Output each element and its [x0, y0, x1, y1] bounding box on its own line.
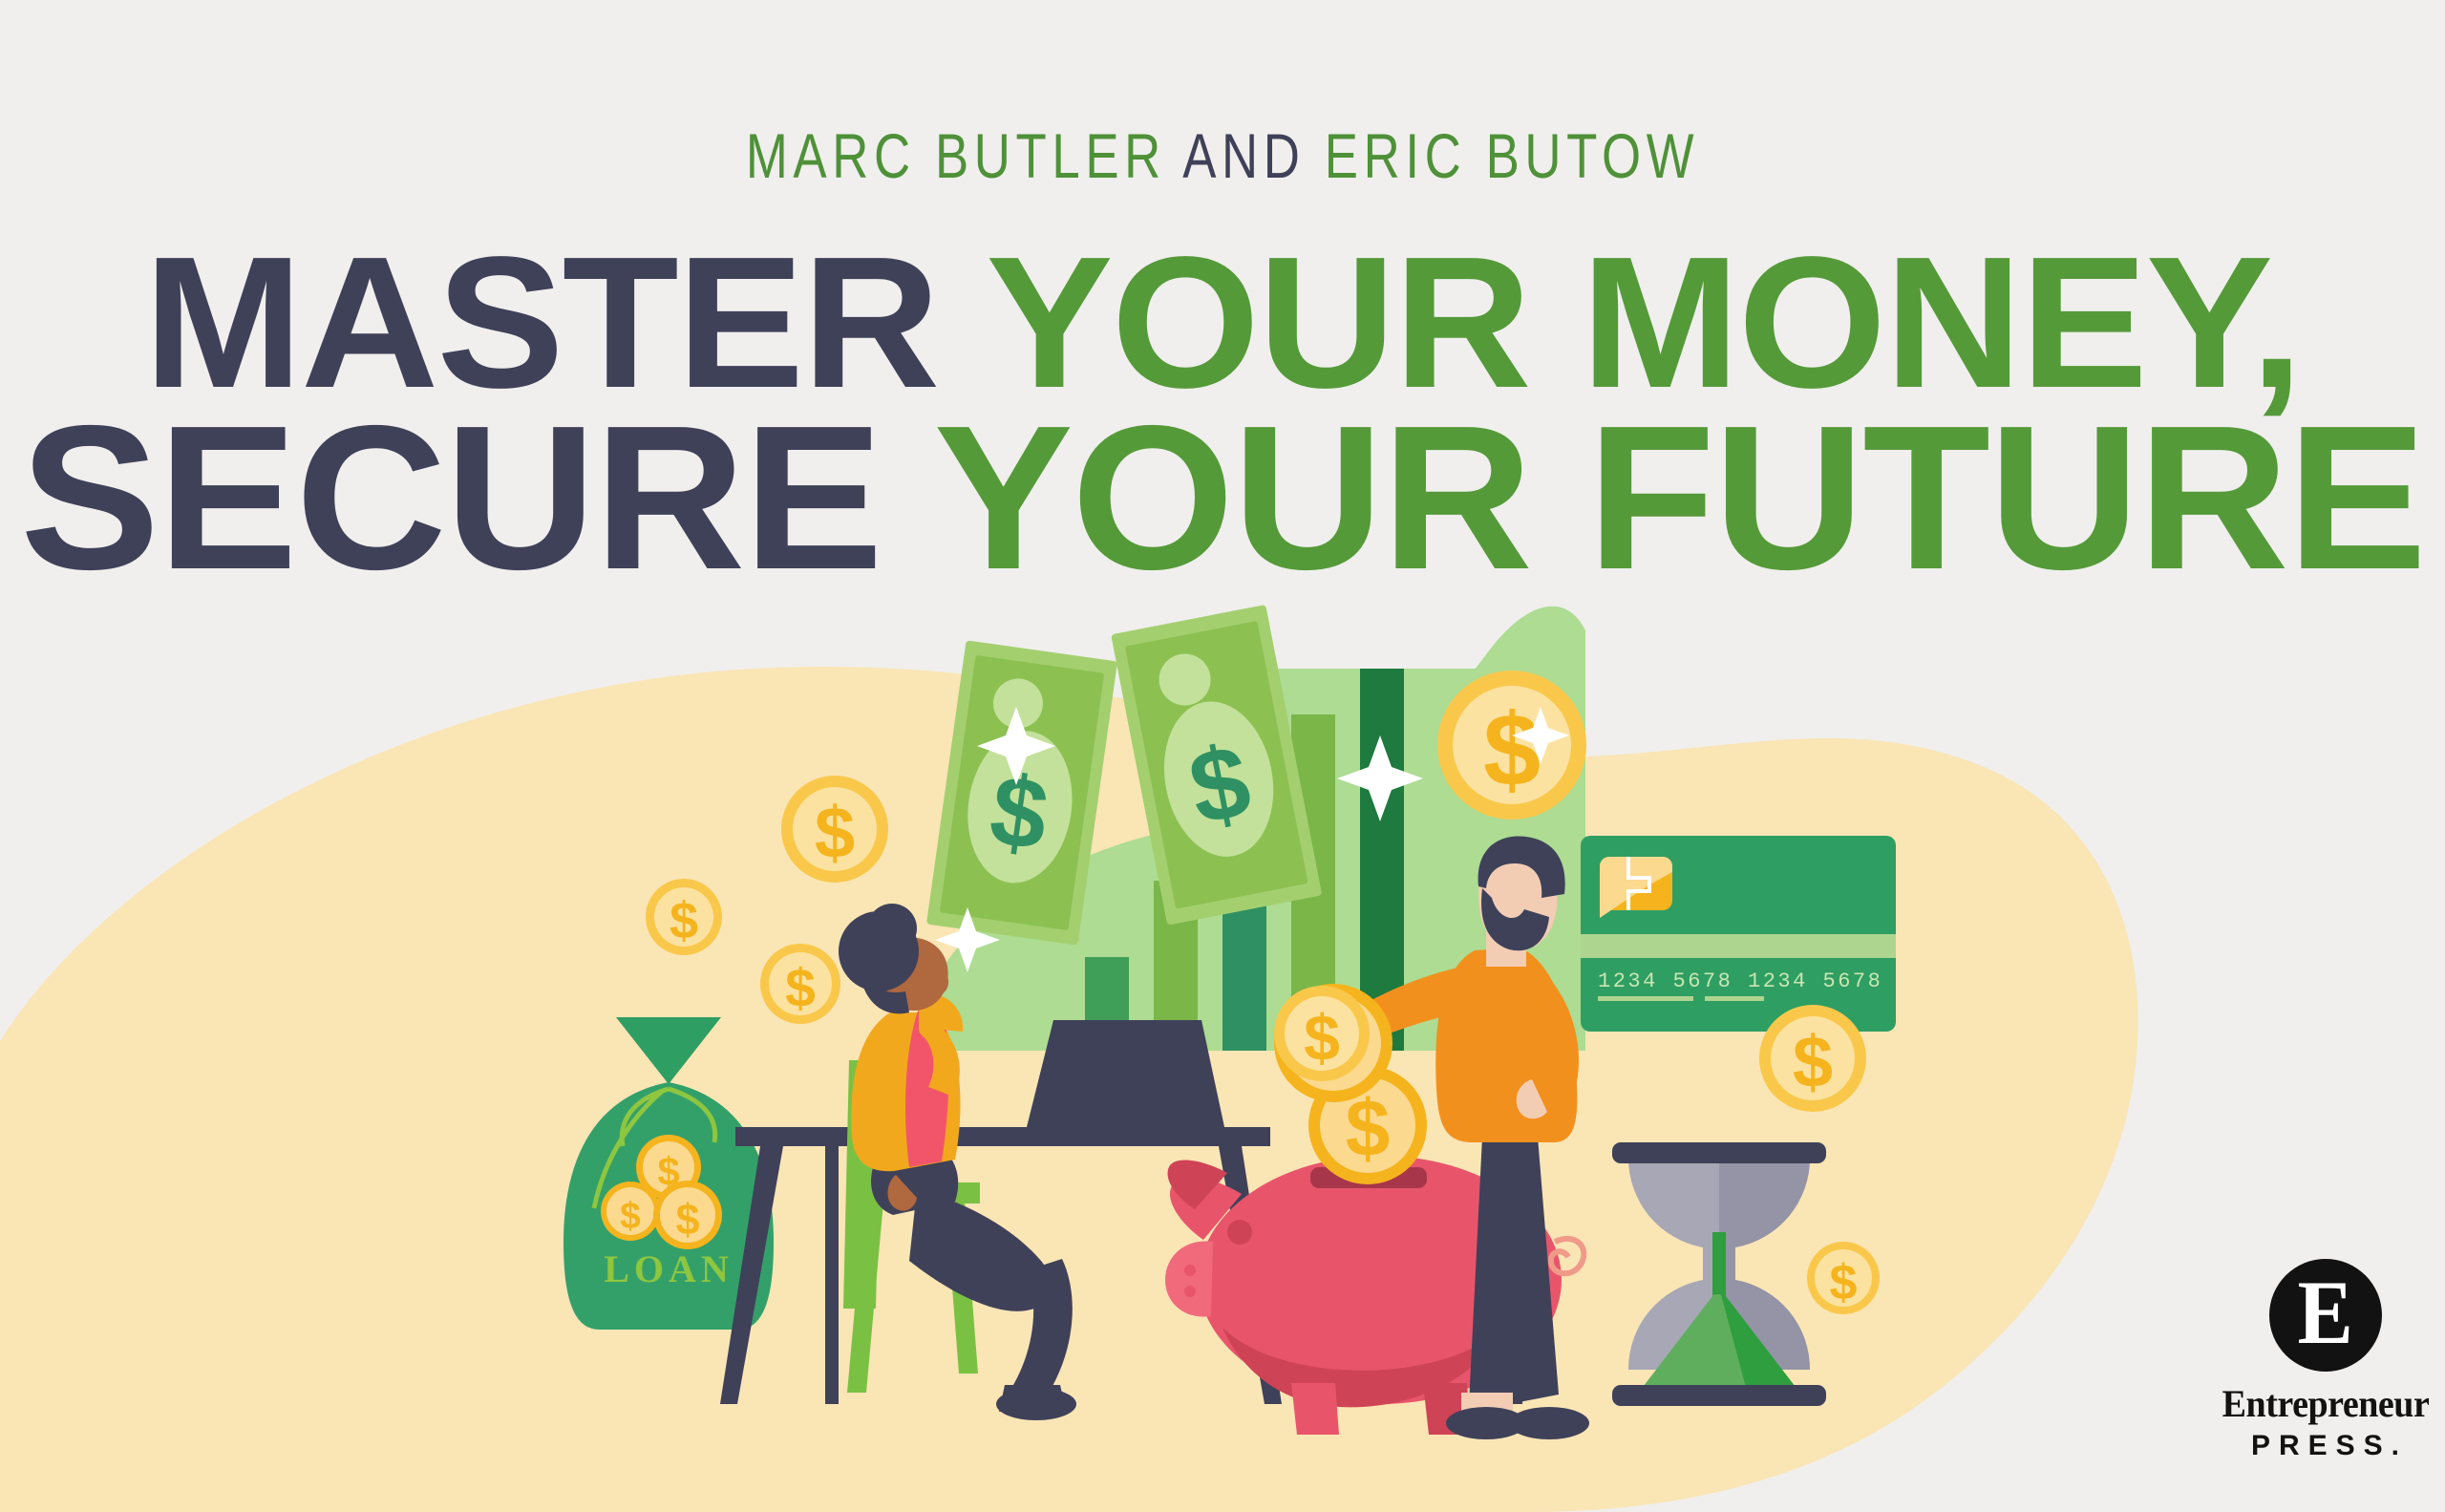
coin-right: $	[1759, 1005, 1866, 1112]
svg-text:$: $	[675, 1195, 699, 1244]
svg-text:$: $	[815, 793, 855, 874]
coin-bottom-right: $	[1807, 1242, 1880, 1314]
svg-text:$: $	[785, 958, 816, 1019]
coin-center: $	[1274, 986, 1370, 1081]
credit-card: 1234 5678 1234 5678	[1581, 836, 1896, 1032]
svg-text:$: $	[1483, 692, 1541, 807]
svg-text:$: $	[1830, 1255, 1858, 1310]
coin-left-upper: $	[781, 776, 888, 883]
coin-large-top: $	[1437, 671, 1586, 820]
svg-text:$: $	[1304, 1002, 1340, 1075]
coin-far-left: $	[646, 879, 722, 955]
cover-illustration: $ $	[0, 0, 2445, 1512]
book-cover: $ $	[0, 0, 2445, 1512]
svg-text:$: $	[670, 892, 698, 949]
card-number-text: 1234 5678 1234 5678	[1598, 969, 1882, 993]
svg-text:$: $	[620, 1196, 641, 1237]
coin-mid-left: $	[760, 944, 840, 1024]
svg-text:$: $	[1793, 1022, 1833, 1103]
money-bag-label-text: LOAN	[604, 1247, 733, 1290]
